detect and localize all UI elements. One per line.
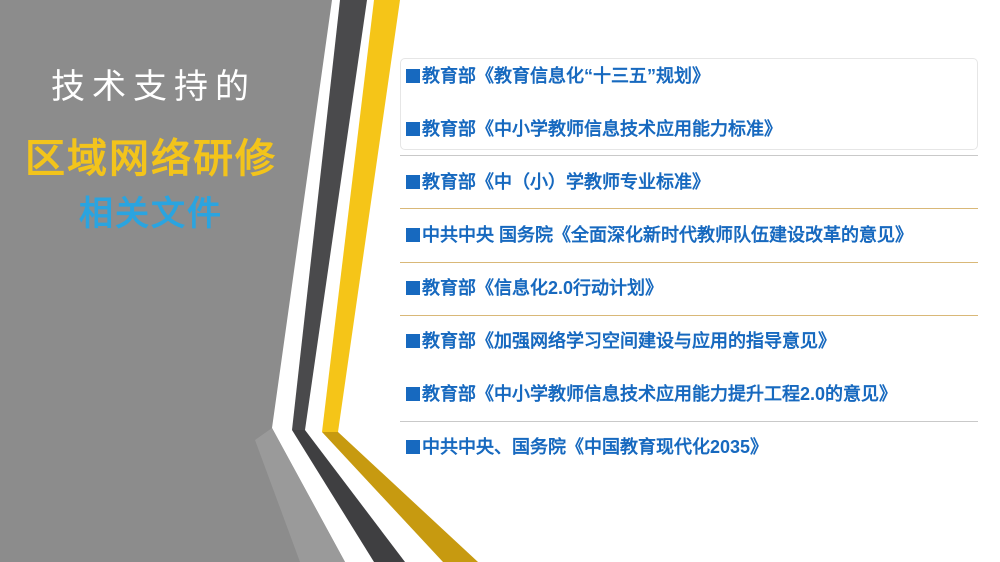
list-item[interactable]: 教育部《加强网络学习空间建设与应用的指导意见》 [398, 313, 986, 366]
stripe-dark-lower [292, 430, 405, 562]
list-item[interactable]: 教育部《中小学教师信息技术应用能力标准》 [398, 101, 986, 154]
bullet-square-icon [406, 387, 420, 401]
title-block: 技术支持的 区域网络研修 相关文件 [0, 62, 300, 238]
list-item-label: 中共中央 国务院《全面深化新时代教师队伍建设改革的意见》 [422, 221, 913, 247]
list-item[interactable]: 教育部《教育信息化“十三五”规划》 [398, 48, 986, 101]
title-line-highlight: 区域网络研修 [0, 128, 300, 190]
list-item-label: 教育部《中小学教师信息技术应用能力提升工程2.0的意见》 [422, 380, 897, 406]
bullet-square-icon [406, 440, 420, 454]
stripe-dark-upper [292, 0, 367, 430]
list-item-label: 教育部《中小学教师信息技术应用能力标准》 [422, 115, 782, 141]
list-item[interactable]: 教育部《中（小）学教师专业标准》 [398, 154, 986, 207]
stripe-yellow-upper [322, 0, 400, 432]
list-item-label: 教育部《中（小）学教师专业标准》 [422, 168, 710, 194]
list-divider [400, 155, 978, 156]
background-gray-shade [255, 428, 345, 562]
title-line-primary: 技术支持的 [0, 62, 300, 114]
list-item[interactable]: 教育部《信息化2.0行动计划》 [398, 260, 986, 313]
list-item-label: 教育部《信息化2.0行动计划》 [422, 274, 663, 300]
bullet-square-icon [406, 69, 420, 83]
bullet-square-icon [406, 175, 420, 189]
list-item[interactable]: 中共中央、国务院《中国教育现代化2035》 [398, 419, 986, 472]
list-item-label: 中共中央、国务院《中国教育现代化2035》 [422, 433, 768, 459]
bullet-square-icon [406, 334, 420, 348]
bullet-square-icon [406, 122, 420, 136]
list-divider [400, 315, 978, 316]
list-item[interactable]: 中共中央 国务院《全面深化新时代教师队伍建设改革的意见》 [398, 207, 986, 260]
list-divider [400, 421, 978, 422]
bullet-square-icon [406, 228, 420, 242]
list-divider [400, 208, 978, 209]
document-list-panel: 教育部《教育信息化“十三五”规划》 教育部《中小学教师信息技术应用能力标准》 教… [398, 48, 986, 500]
slide-canvas: 技术支持的 区域网络研修 相关文件 教育部《教育信息化“十三五”规划》 教育部《… [0, 0, 1000, 562]
title-line-subtitle: 相关文件 [0, 190, 300, 238]
list-item-label: 教育部《加强网络学习空间建设与应用的指导意见》 [422, 327, 836, 353]
list-item[interactable]: 教育部《中小学教师信息技术应用能力提升工程2.0的意见》 [398, 366, 986, 419]
list-divider [400, 262, 978, 263]
list-item-label: 教育部《教育信息化“十三五”规划》 [422, 62, 710, 88]
bullet-square-icon [406, 281, 420, 295]
